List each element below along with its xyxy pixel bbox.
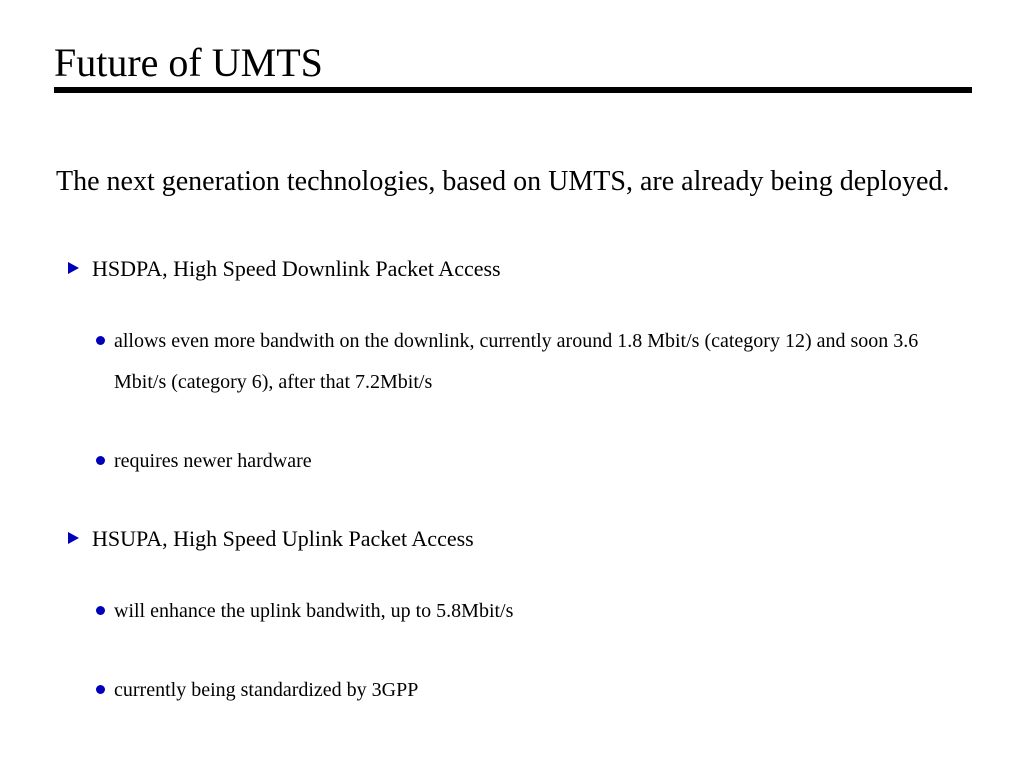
list-item: currently being standardized by 3GPP bbox=[0, 670, 1024, 711]
title-block: Future of UMTS bbox=[54, 40, 974, 88]
list-item-label: requires newer hardware bbox=[114, 441, 964, 482]
list-item: will enhance the uplink bandwith, up to … bbox=[0, 591, 1024, 632]
spacer bbox=[0, 581, 1024, 591]
list-item-label: HSDPA, High Speed Downlink Packet Access bbox=[92, 252, 1024, 286]
page-title: Future of UMTS bbox=[54, 40, 974, 88]
intro-paragraph: The next generation technologies, based … bbox=[56, 159, 956, 205]
spacer bbox=[0, 429, 1024, 441]
disc-bullet-icon bbox=[96, 336, 105, 345]
disc-bullet-icon bbox=[96, 456, 105, 465]
list-item-label: will enhance the uplink bandwith, up to … bbox=[114, 591, 964, 632]
list-item-label: allows even more bandwith on the downlin… bbox=[114, 321, 964, 403]
list-item: HSUPA, High Speed Uplink Packet Access bbox=[0, 522, 1024, 556]
list-item: allows even more bandwith on the downlin… bbox=[0, 321, 1024, 403]
list-item: requires newer hardware bbox=[0, 441, 1024, 482]
spacer bbox=[0, 311, 1024, 321]
disc-bullet-icon bbox=[96, 685, 105, 694]
list-item-label: HSUPA, High Speed Uplink Packet Access bbox=[92, 522, 1024, 556]
triangle-right-bullet-icon bbox=[68, 262, 79, 274]
bullet-list: HSDPA, High Speed Downlink Packet Access… bbox=[0, 252, 1024, 737]
list-item-label: currently being standardized by 3GPP bbox=[114, 670, 964, 711]
triangle-right-bullet-icon bbox=[68, 532, 79, 544]
presentation-slide: Future of UMTS The next generation techn… bbox=[0, 0, 1024, 768]
list-item: HSDPA, High Speed Downlink Packet Access bbox=[0, 252, 1024, 286]
title-underline-rule bbox=[54, 87, 972, 93]
disc-bullet-icon bbox=[96, 606, 105, 615]
spacer bbox=[0, 658, 1024, 670]
spacer bbox=[0, 508, 1024, 522]
